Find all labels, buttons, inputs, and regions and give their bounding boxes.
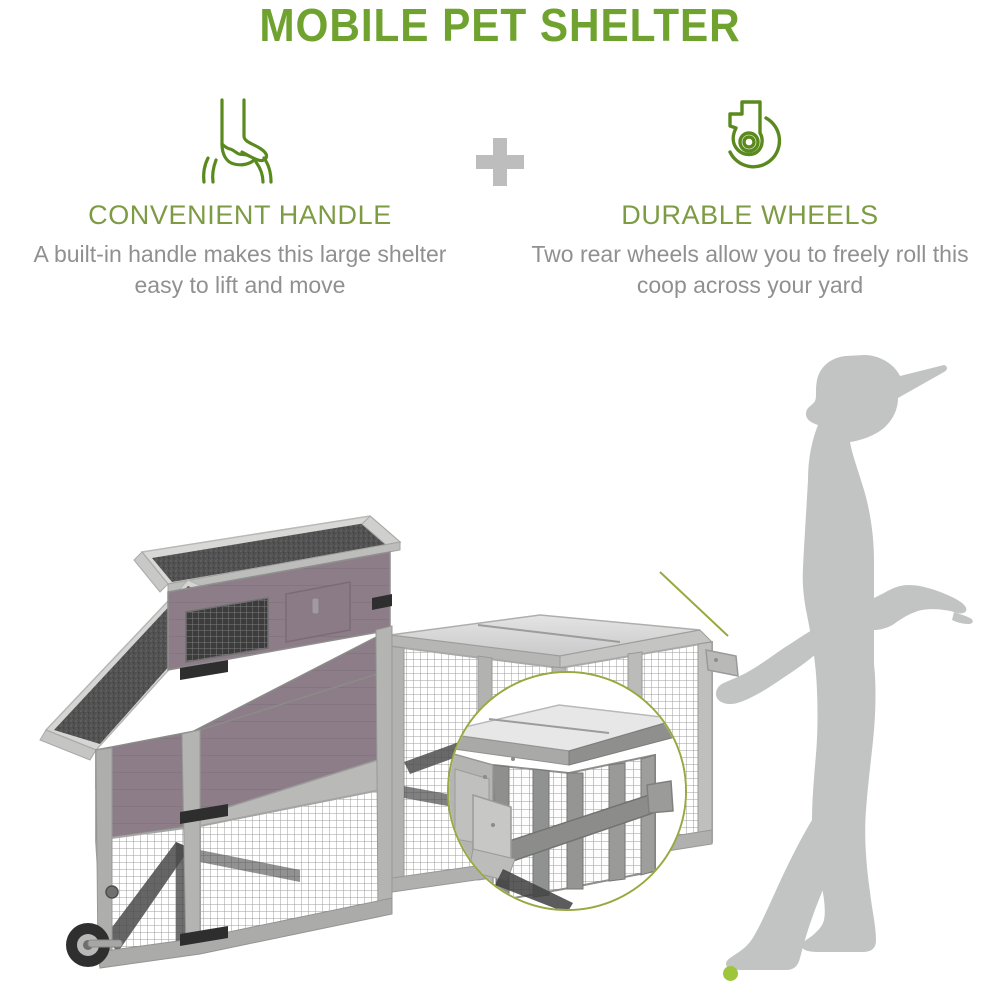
- feature-body-text: Two rear wheels allow you to freely roll…: [530, 239, 970, 301]
- callout-detail-circle: [447, 671, 687, 911]
- product-scene: [0, 330, 1000, 1000]
- hand-grip-icon: [20, 92, 460, 188]
- feature-durable-wheels: DURABLE WHEELS Two rear wheels allow you…: [530, 92, 970, 301]
- feature-body-text: A built-in handle makes this large shelt…: [20, 239, 460, 301]
- coop-hen-house: [40, 516, 400, 968]
- feature-convenient-handle: CONVENIENT HANDLE A built-in handle make…: [20, 92, 460, 301]
- feature-heading: DURABLE WHEELS: [530, 200, 970, 231]
- feature-heading: CONVENIENT HANDLE: [20, 200, 460, 231]
- infographic-canvas: MOBILE PET SHELTER CONVENIENT HANDLE A b…: [0, 0, 1000, 1000]
- person-silhouette: [716, 355, 973, 970]
- caster-wheel-icon: [530, 92, 970, 188]
- page-title: MOBILE PET SHELTER: [40, 0, 960, 50]
- plus-icon: [476, 138, 524, 186]
- callout-leader-line: [660, 572, 728, 636]
- callout-endpoint-dot: [723, 966, 738, 981]
